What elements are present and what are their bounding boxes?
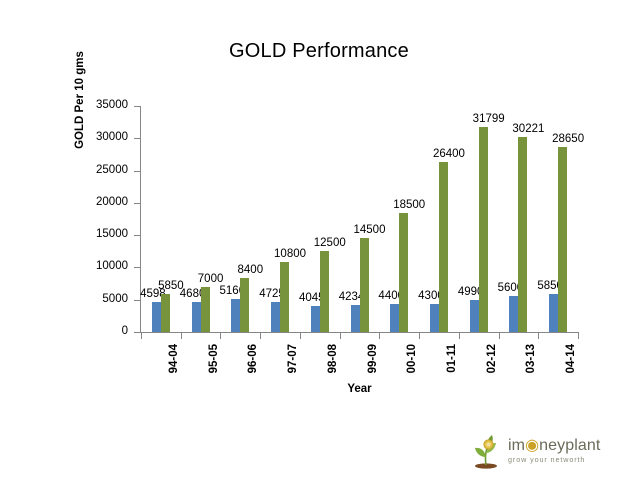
bar[interactable] <box>231 299 240 332</box>
x-axis-tick <box>260 333 261 339</box>
bar[interactable] <box>161 294 170 332</box>
bar[interactable] <box>311 306 320 332</box>
brand-logo: im◉neyplant grow your networth <box>466 431 626 473</box>
bar[interactable] <box>399 213 408 332</box>
x-axis-tick <box>499 333 500 339</box>
bar-value-label: 12500 <box>307 237 353 249</box>
logo-text-block: im◉neyplant grow your networth <box>508 437 626 464</box>
plot-area: 4598585046807000516084004725108004045125… <box>141 106 578 332</box>
bar-value-label: 26400 <box>426 148 472 160</box>
logo-wordmark-pre: im <box>508 437 525 454</box>
bar[interactable] <box>351 305 360 332</box>
bar-value-label: 14500 <box>347 224 393 236</box>
bar-value-label: 18500 <box>386 199 432 211</box>
bar[interactable] <box>518 137 527 332</box>
y-axis-tick-label: 25000 <box>66 165 128 177</box>
x-axis-tick <box>220 333 221 339</box>
x-axis-category-label: 00-10 <box>405 344 419 404</box>
bar-group[interactable]: 560030221 <box>509 106 527 332</box>
x-axis-tick <box>578 333 579 339</box>
bar-group[interactable]: 472510800 <box>271 106 289 332</box>
bar[interactable] <box>430 304 439 332</box>
x-axis-category-label: 95-05 <box>207 344 221 404</box>
bar[interactable] <box>509 296 518 332</box>
x-axis-tick <box>300 333 301 339</box>
bar-value-label: 8400 <box>227 264 273 276</box>
y-axis-tick-label: 15000 <box>66 229 128 241</box>
logo-wordmark-post: neyplant <box>539 437 600 454</box>
y-axis-tick <box>134 235 140 236</box>
bar-group[interactable]: 51608400 <box>231 106 249 332</box>
logo-coin-glyph: ◉ <box>525 437 539 454</box>
x-axis-line <box>140 332 579 333</box>
bar[interactable] <box>558 147 567 332</box>
y-axis-tick-label: 20000 <box>66 197 128 209</box>
bar[interactable] <box>152 302 161 332</box>
x-axis-title: Year <box>141 383 578 395</box>
y-axis-tick-label: 30000 <box>66 132 128 144</box>
bar[interactable] <box>240 278 249 332</box>
x-axis-tick <box>538 333 539 339</box>
x-axis-tick <box>379 333 380 339</box>
bar-group[interactable]: 499031799 <box>470 106 488 332</box>
bar[interactable] <box>280 262 289 332</box>
y-axis-tick <box>134 106 140 107</box>
y-axis-tick-label: 5000 <box>66 294 128 306</box>
x-axis-tick <box>141 333 142 339</box>
x-axis-category-label: 94-04 <box>167 344 181 404</box>
logo-tagline: grow your networth <box>508 455 626 464</box>
y-axis-tick <box>134 267 140 268</box>
bar-group[interactable]: 440018500 <box>390 106 408 332</box>
bar[interactable] <box>360 238 369 332</box>
y-axis-tick <box>134 203 140 204</box>
x-axis-category-label: 98-08 <box>326 344 340 404</box>
y-axis-tick-label: 35000 <box>66 100 128 112</box>
x-axis-tick <box>419 333 420 339</box>
y-axis-tick <box>134 171 140 172</box>
bar-group[interactable]: 46807000 <box>192 106 210 332</box>
bar-value-label: 10800 <box>267 248 313 260</box>
x-axis-category-label: 03-13 <box>524 344 538 404</box>
y-axis-tick-label: 0 <box>66 326 128 338</box>
bar[interactable] <box>549 294 558 332</box>
bar[interactable] <box>439 162 448 332</box>
x-axis-category-label: 02-12 <box>485 344 499 404</box>
bar[interactable] <box>271 302 280 333</box>
x-axis-category-label: 96-06 <box>246 344 260 404</box>
y-axis-tick <box>134 332 140 333</box>
bar-value-label: 28650 <box>545 133 591 145</box>
y-axis-tick-label: 10000 <box>66 261 128 273</box>
x-axis-category-label: 04-14 <box>564 344 578 404</box>
bar[interactable] <box>320 251 329 332</box>
bar-group[interactable]: 45985850 <box>152 106 170 332</box>
y-axis-tick <box>134 138 140 139</box>
bar-group[interactable]: 404512500 <box>311 106 329 332</box>
bar[interactable] <box>201 287 210 332</box>
bar-group[interactable]: 423414500 <box>351 106 369 332</box>
bar[interactable] <box>390 304 399 332</box>
x-axis-category-label: 99-09 <box>366 344 380 404</box>
x-axis-category-label: 01-11 <box>445 344 459 404</box>
x-axis-tick <box>181 333 182 339</box>
bar-group[interactable]: 430026400 <box>430 106 448 332</box>
logo-wordmark: im◉neyplant <box>508 437 626 454</box>
bar[interactable] <box>470 300 479 332</box>
bar[interactable] <box>192 302 201 332</box>
x-axis-category-label: 97-07 <box>286 344 300 404</box>
x-axis-tick <box>340 333 341 339</box>
bar-group[interactable]: 585028650 <box>549 106 567 332</box>
page-title: GOLD Performance <box>0 40 638 63</box>
sprout-coin-icon <box>466 431 506 471</box>
x-axis-tick <box>459 333 460 339</box>
bar[interactable] <box>479 127 488 332</box>
